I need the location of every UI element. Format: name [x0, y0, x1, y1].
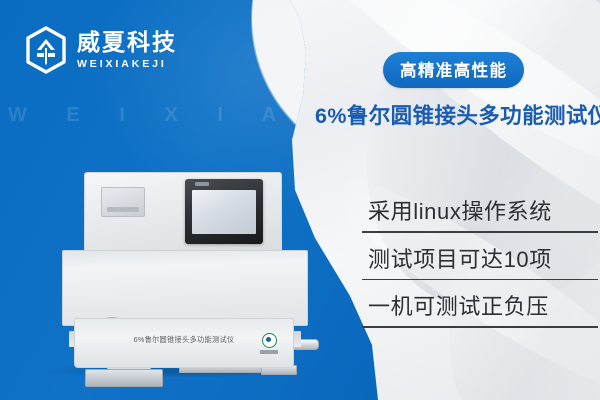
product-image: 6%鲁尔圆锥接头多功能测试仪: [62, 172, 317, 368]
feature-divider: [362, 279, 598, 281]
machine-front-label-panel: 6%鲁尔圆锥接头多功能测试仪: [74, 318, 294, 368]
cert-seal-bar: [260, 350, 278, 354]
touchscreen-panel: [185, 179, 263, 244]
brand-watermark: W E I X I A K E J I: [8, 104, 308, 127]
brand-logo: 威夏科技 WEIXIAKEJI: [24, 26, 177, 74]
list-item: 一机可测试正负压: [362, 291, 598, 328]
feature-divider: [362, 231, 598, 233]
list-item: 测试项目可达10项: [362, 244, 598, 281]
hexagon-emblem-icon: [24, 26, 68, 74]
brand-text: 威夏科技 WEIXIAKEJI: [77, 31, 177, 70]
highlight-badge: 高精准高性能: [383, 52, 524, 88]
promo-banner: W E I X I A K E J I 威夏科技 WEIXIAKEJI 高精准高…: [0, 0, 600, 400]
feature-label: 测试项目可达10项: [362, 244, 598, 279]
list-item: 采用linux操作系统: [362, 196, 598, 233]
feature-label: 采用linux操作系统: [362, 196, 598, 231]
feature-divider: [362, 326, 598, 328]
touchscreen-display: [192, 190, 256, 234]
brand-name-cn: 威夏科技: [77, 31, 177, 54]
machine-base: [62, 250, 308, 326]
feature-list: 采用linux操作系统 测试项目可达10项 一机可测试正负压: [362, 196, 598, 339]
page-title: 6%鲁尔圆锥接头多功能测试仪: [315, 99, 597, 130]
cert-seal-ring: [262, 333, 277, 348]
brand-name-en: WEIXIAKEJI: [77, 59, 177, 70]
machine-access-plate: [101, 187, 145, 217]
feature-label: 一机可测试正负压: [362, 291, 598, 326]
collection-tray: [85, 369, 163, 387]
cert-seal-icon: [259, 333, 279, 355]
status-led: [195, 182, 209, 186]
machine-back-panel: [84, 172, 282, 251]
